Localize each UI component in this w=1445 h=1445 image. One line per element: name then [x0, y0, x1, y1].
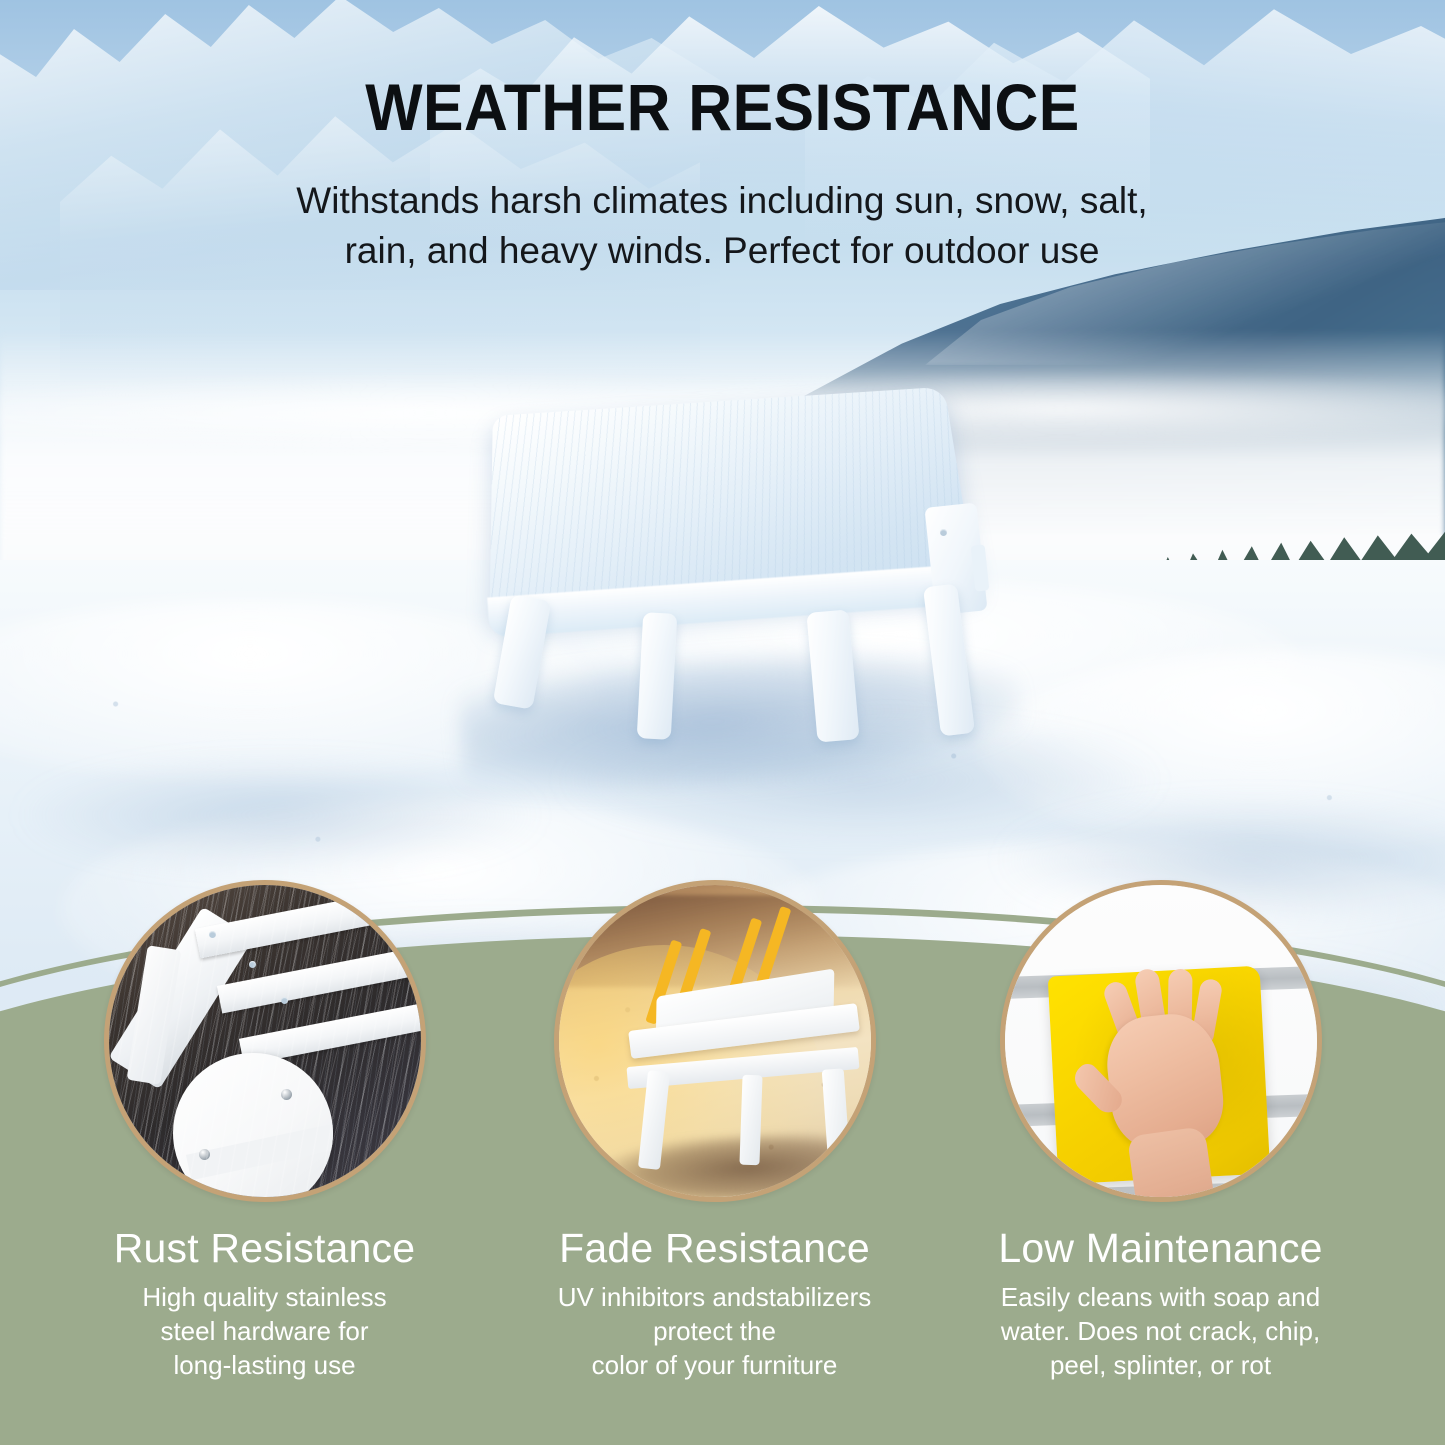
- feature-rust-resistance: Rust Resistance High quality stainless s…: [42, 880, 487, 1382]
- page-subtitle: Withstands harsh climates including sun,…: [222, 176, 1222, 277]
- feature-low-maintenance: Low Maintenance Easily cleans with soap …: [938, 880, 1383, 1382]
- rain-streaks-overlay: [109, 885, 421, 1197]
- feature-desc-line: color of your furniture: [492, 1349, 937, 1383]
- subtitle-line-2: rain, and heavy winds. Perfect for outdo…: [222, 226, 1222, 276]
- feature-description: UV inhibitors andstabilizers protect the…: [492, 1281, 937, 1382]
- chair-leg: [739, 1075, 762, 1166]
- feature-image-rust-resistance: [104, 880, 426, 1202]
- feature-title: Rust Resistance: [42, 1226, 487, 1272]
- feature-desc-line: Easily cleans with soap and: [938, 1281, 1383, 1315]
- feature-desc-line: peel, splinter, or rot: [938, 1349, 1383, 1383]
- feature-desc-line: UV inhibitors andstabilizers: [492, 1281, 937, 1315]
- hand-wrist: [1126, 1126, 1216, 1202]
- feature-desc-line: steel hardware for: [42, 1315, 487, 1349]
- feature-image-low-maintenance: [1000, 880, 1322, 1202]
- feature-desc-line: High quality stainless: [42, 1281, 487, 1315]
- hero-snow-chair: [440, 385, 1020, 785]
- product-infographic: WEATHER RESISTANCE Withstands harsh clim…: [0, 0, 1445, 1445]
- feature-title: Low Maintenance: [938, 1226, 1383, 1272]
- feature-description: High quality stainless steel hardware fo…: [42, 1281, 487, 1382]
- feature-fade-resistance: Fade Resistance UV inhibitors andstabili…: [492, 880, 937, 1382]
- subtitle-line-1: Withstands harsh climates including sun,…: [222, 176, 1222, 226]
- chair-screw: [940, 529, 947, 536]
- feature-desc-line: long-lasting use: [42, 1349, 487, 1383]
- feature-image-fade-resistance: [554, 880, 876, 1202]
- feature-title: Fade Resistance: [492, 1226, 937, 1272]
- feature-row: Rust Resistance High quality stainless s…: [0, 880, 1445, 1440]
- page-title: WEATHER RESISTANCE: [58, 74, 1387, 140]
- feature-description: Easily cleans with soap and water. Does …: [938, 1281, 1383, 1382]
- chair-leg-front-middle: [637, 612, 678, 740]
- feature-desc-line: protect the: [492, 1315, 937, 1349]
- feature-desc-line: water. Does not crack, chip,: [938, 1315, 1383, 1349]
